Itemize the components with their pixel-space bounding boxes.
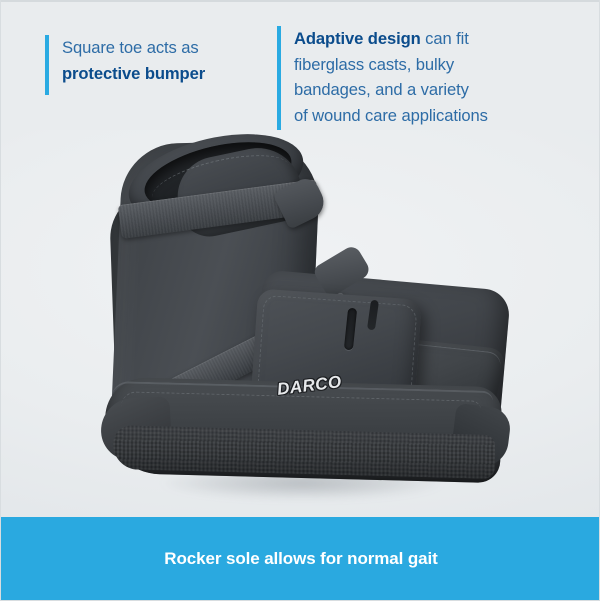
callout-line-trailing: can fit bbox=[421, 29, 469, 48]
callout-adaptive-design: Adaptive design can fit fiberglass casts… bbox=[277, 26, 488, 132]
callout-line: of wound care applications bbox=[294, 106, 488, 125]
bottom-banner-text: Rocker sole allows for normal gait bbox=[164, 549, 437, 569]
product-feature-panel: Square toe acts as protective bumper Ada… bbox=[0, 0, 600, 601]
callout-square-toe: Square toe acts as protective bumper bbox=[45, 35, 205, 95]
callout-adaptive-design-text: Adaptive design can fit fiberglass casts… bbox=[294, 26, 488, 128]
bottom-banner: Rocker sole allows for normal gait bbox=[1, 517, 600, 601]
accent-bar-icon bbox=[45, 35, 49, 95]
callout-line: bandages, and a variety bbox=[294, 80, 469, 99]
product-photo bbox=[1, 130, 600, 520]
callout-line: fiberglass casts, bulky bbox=[294, 55, 454, 74]
callout-line-bold: protective bumper bbox=[62, 64, 205, 83]
callout-line-bold: Adaptive design bbox=[294, 29, 421, 48]
callout-square-toe-text: Square toe acts as protective bumper bbox=[62, 35, 205, 87]
callout-group: Square toe acts as protective bumper Ada… bbox=[1, 0, 600, 150]
accent-bar-icon bbox=[277, 26, 281, 132]
cast-shoe-illustration bbox=[1, 130, 600, 520]
callout-line: Square toe acts as bbox=[62, 38, 199, 57]
